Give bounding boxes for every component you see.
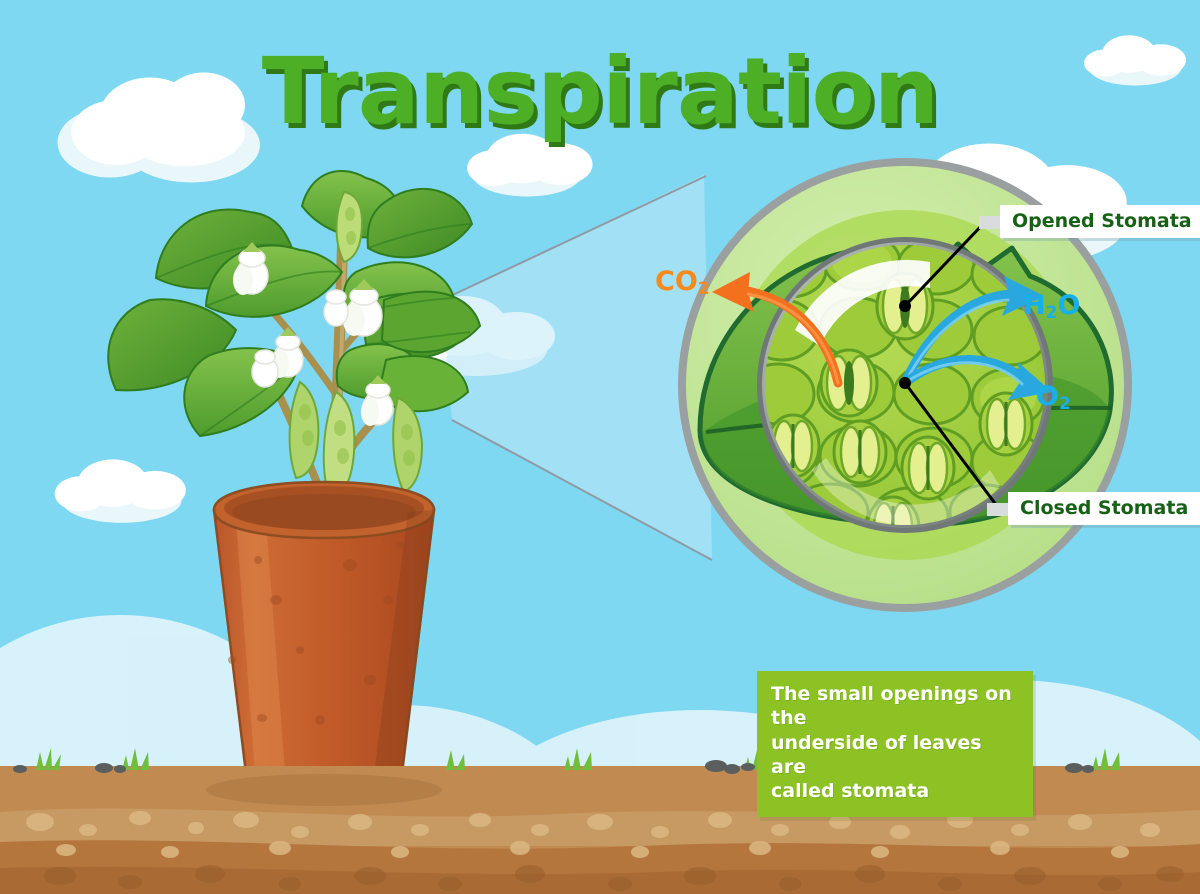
caption-line-2: underside of leaves are <box>771 731 1019 780</box>
caption-line-3: called stomata <box>771 779 1019 803</box>
h2o-subscript: 2 <box>1046 303 1058 323</box>
closed-stomata-label: Closed Stomata <box>1008 492 1200 525</box>
h2o-h: H <box>1023 290 1046 321</box>
closed-stomata-stub <box>987 503 1009 516</box>
stomata-caption-box: The small openings on the underside of l… <box>757 671 1033 817</box>
co2-label: CO2 <box>655 268 710 298</box>
o2-label: O2 <box>1036 383 1071 413</box>
co2-subscript: 2 <box>698 279 710 299</box>
caption-line-1: The small openings on the <box>771 682 1019 731</box>
flower-pot <box>214 482 434 790</box>
pot-shadow <box>206 774 442 806</box>
potted-plant <box>108 171 480 530</box>
grass-tuft <box>36 748 61 770</box>
o2-formula: O <box>1036 381 1059 412</box>
grass-tuft <box>564 748 592 770</box>
opened-stomata-label: Opened Stomata <box>1000 205 1200 238</box>
grass-tuft <box>1092 748 1120 770</box>
h2o-label: H2O <box>1023 292 1080 322</box>
transpiration-diagram: Transpiration Opened Stomata Closed Stom… <box>0 0 1200 894</box>
opened-stomata-stub <box>979 216 1001 229</box>
h2o-o: O <box>1057 290 1080 321</box>
grass-tuft <box>122 748 149 770</box>
o2-subscript: 2 <box>1059 394 1071 414</box>
co2-formula: CO <box>655 266 698 297</box>
